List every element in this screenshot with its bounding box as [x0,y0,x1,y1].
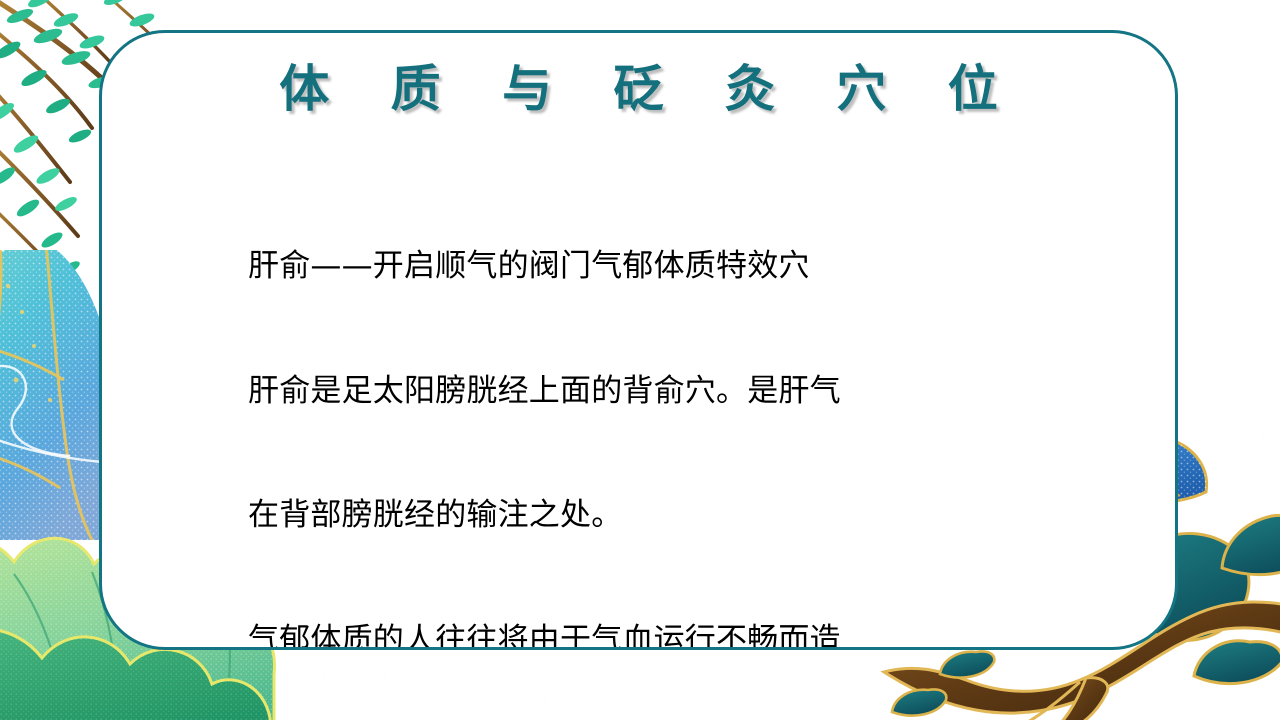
mist-streak [0,668,896,677]
body-line: 气郁体质的人往往将由于气血运行不畅而造 [248,620,1175,651]
content-card: 体 质 与 砭 灸 穴 位 肝俞——开启顺气的阀门气郁体质特效穴 肝俞是足太阳膀… [99,30,1178,650]
slide-canvas: 体 质 与 砭 灸 穴 位 肝俞——开启顺气的阀门气郁体质特效穴 肝俞是足太阳膀… [0,0,1280,720]
mist-streak [256,700,1280,707]
body-line: 肝俞是足太阳膀胱经上面的背俞穴。是肝气 [248,371,1175,413]
body-line: 在背部膀胱经的输注之处。 [248,495,1175,537]
body-text-block: 肝俞——开启顺气的阀门气郁体质特效穴 肝俞是足太阳膀胱经上面的背俞穴。是肝气 在… [102,117,1175,650]
body-line: 肝俞——开启顺气的阀门气郁体质特效穴 [248,246,1175,288]
page-title: 体 质 与 砭 灸 穴 位 [102,33,1175,117]
